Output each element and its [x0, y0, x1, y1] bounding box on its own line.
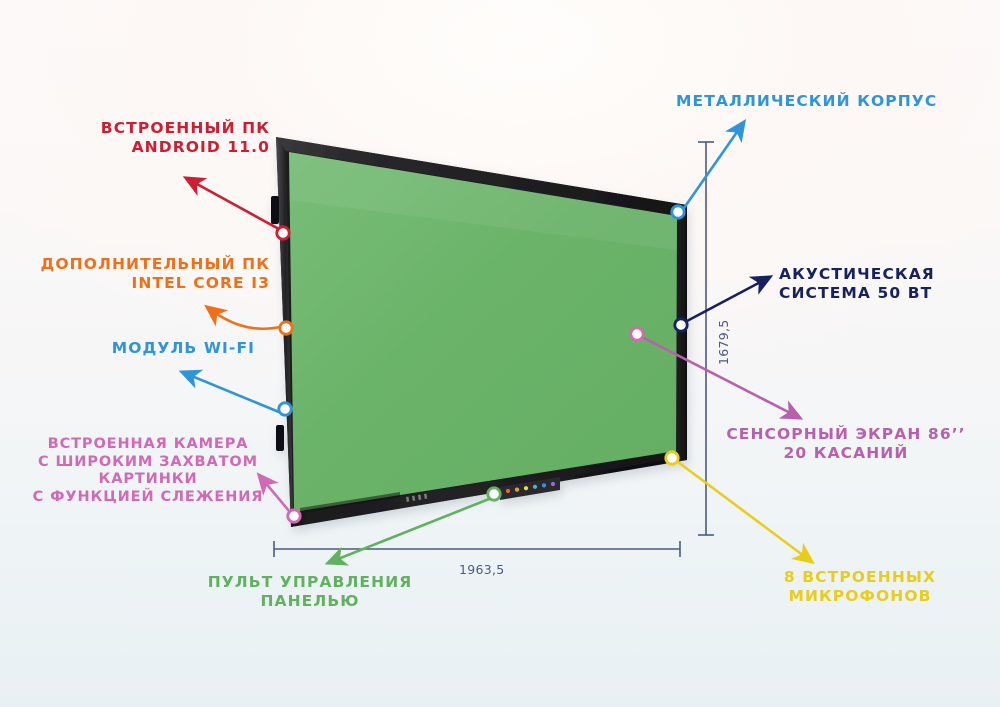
- panel-body: [271, 137, 687, 527]
- leader-metal-body: [684, 122, 744, 208]
- panel-bezel-top: [276, 137, 687, 216]
- power-indicator-led: [297, 517, 300, 520]
- infographic-canvas: ВСТРОЕННЫЙ ПК ANDROID 11.0 ДОПОЛНИТЕЛЬНЫ…: [0, 0, 1000, 707]
- status-led-cluster: [406, 494, 427, 502]
- leader-panel-control: [328, 499, 489, 563]
- callout-label-builtin-pc[interactable]: ВСТРОЕННЫЙ ПК ANDROID 11.0: [30, 119, 270, 157]
- dimension-label-width: 1963,5: [459, 562, 505, 577]
- anchor-dot-metal-body[interactable]: [672, 206, 684, 218]
- leader-wifi-module: [182, 372, 279, 412]
- screen-sheen: [289, 152, 677, 250]
- anchor-dot-audio-system[interactable]: [675, 319, 687, 331]
- anchor-dot-microphones[interactable]: [666, 452, 678, 464]
- leader-optional-pc: [207, 307, 280, 329]
- anchor-dot-panel-control[interactable]: [488, 488, 500, 500]
- leader-microphones: [678, 462, 812, 562]
- dimension-label-height: 1679,5: [716, 319, 731, 365]
- control-strip-buttons[interactable]: [506, 482, 555, 493]
- callout-label-microphones[interactable]: 8 ВСТРОЕННЫХ МИКРОФОНОВ: [735, 568, 985, 606]
- callout-label-panel-control[interactable]: ПУЛЬТ УПРАВЛЕНИЯ ПАНЕЛЬЮ: [190, 573, 430, 611]
- leader-audio-system: [687, 277, 770, 321]
- callout-label-metal-body[interactable]: МЕТАЛЛИЧЕСКИЙ КОРПУС: [676, 92, 976, 111]
- callout-label-builtin-camera[interactable]: ВСТРОЕННАЯ КАМЕРА С ШИРОКИМ ЗАХВАТОМ КАР…: [22, 436, 274, 507]
- callout-label-touch-screen[interactable]: СЕНСОРНЫЙ ЭКРАН 86’’ 20 КАСАНИЙ: [706, 425, 986, 463]
- panel-outer-bezel: [276, 137, 687, 527]
- anchor-dot-builtin-camera[interactable]: [288, 510, 300, 522]
- anchor-dot-optional-pc[interactable]: [280, 322, 292, 334]
- panel-bezel-bottom-speaker-bar: [291, 452, 687, 527]
- side-port-lower: [276, 425, 284, 451]
- callout-label-optional-pc[interactable]: ДОПОЛНИТЕЛЬНЫЙ ПК INTEL CORE I3: [20, 255, 270, 293]
- anchor-dot-wifi-module[interactable]: [279, 403, 291, 415]
- leader-builtin-pc: [186, 178, 277, 228]
- control-strip-panel[interactable]: [500, 477, 560, 500]
- callout-label-audio-system[interactable]: АКУСТИЧЕСКАЯ СИСТЕМА 50 ВТ: [779, 265, 994, 303]
- panel-bezel-left: [276, 137, 293, 527]
- speaker-grille: [300, 460, 665, 513]
- anchor-dot-builtin-pc[interactable]: [277, 227, 289, 239]
- side-port-upper: [271, 196, 279, 224]
- panel-bezel-right: [675, 205, 687, 460]
- callout-label-wifi-module[interactable]: МОДУЛЬ WI-FI: [40, 339, 255, 358]
- panel-screen: [289, 152, 677, 512]
- anchor-dot-touch-screen[interactable]: [631, 328, 643, 340]
